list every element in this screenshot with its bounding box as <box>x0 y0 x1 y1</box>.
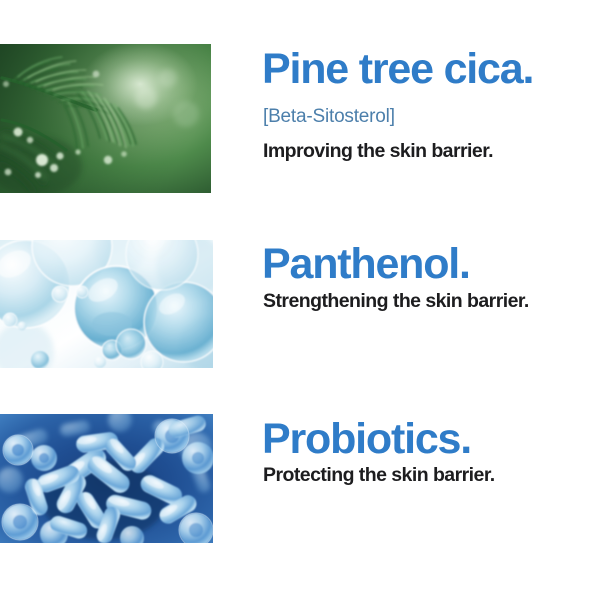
pine-subtitle: [Beta-Sitosterol] <box>263 107 395 126</box>
probiotics-tagline: Protecting the skin barrier. <box>263 466 495 486</box>
pine-headline: Pine tree cica. <box>262 48 533 91</box>
infographic-page: Pine tree cica. [Beta-Sitosterol] Improv… <box>0 0 600 600</box>
panthenol-tagline: Strengthening the skin barrier. <box>263 292 529 312</box>
pine-tagline: Improving the skin barrier. <box>263 142 493 162</box>
panthenol-headline: Panthenol. <box>262 243 470 286</box>
probiotic-bacteria-photo <box>0 414 213 543</box>
water-bubbles-photo <box>0 240 213 368</box>
probiotics-headline: Probiotics. <box>262 418 471 461</box>
pine-branch-photo <box>0 44 211 193</box>
